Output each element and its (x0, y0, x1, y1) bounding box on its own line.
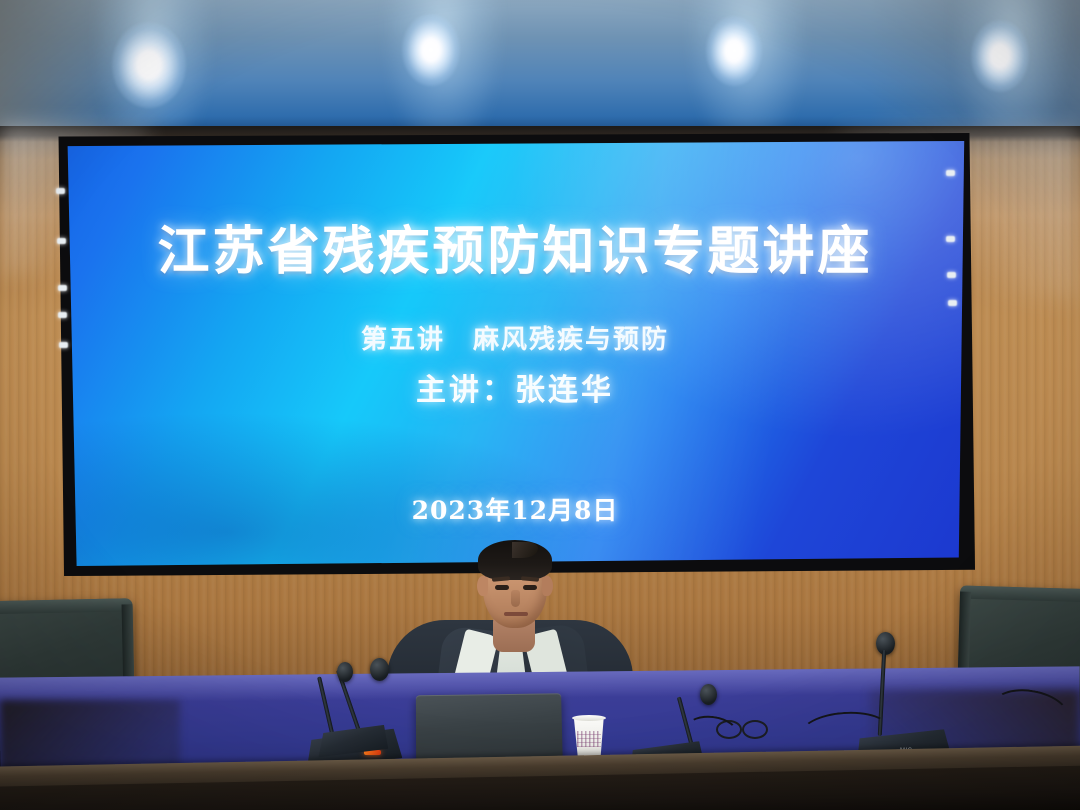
bezel-reflection-dot (946, 170, 955, 176)
microphone-left-capsule (370, 658, 389, 681)
chair-top-rail (0, 598, 133, 615)
speaker-eye-right (523, 585, 537, 590)
bezel-reflection-dot (57, 238, 66, 244)
chair-top-rail (960, 586, 1080, 604)
bezel-reflection-dot (58, 285, 67, 291)
ceiling-light-4 (971, 20, 1029, 92)
bezel-reflection-dot (946, 236, 955, 242)
slide-date: 2023年12月8日 (64, 491, 966, 527)
bezel-reflection-dot (947, 272, 956, 278)
lecture-room-photo: 江苏省残疾预防知识专题讲座 第五讲 麻风残疾与预防 主讲：张连华 2023年12… (0, 0, 1080, 810)
ceiling-light-2 (402, 14, 460, 86)
speaker-nose (511, 590, 520, 607)
slide-presenter: 主讲：张连华 (64, 365, 966, 409)
bezel-reflection-dot (58, 312, 67, 318)
speaker-ear-left (477, 576, 488, 596)
slide-content: 江苏省残疾预防知识专题讲座 第五讲 麻风残疾与预防 主讲：张连华 2023年12… (64, 141, 966, 566)
speaker-mouth (504, 612, 528, 616)
bezel-reflection-dot (948, 300, 957, 306)
speaker-eye-left (495, 585, 509, 590)
speaker-ear-right (542, 576, 553, 596)
microphone-center-right-capsule (700, 684, 717, 705)
bezel-reflection-dot (59, 342, 68, 348)
paper-cup-pattern (577, 731, 601, 747)
microphone-center-left-capsule (337, 662, 353, 682)
ceiling-light-3 (706, 16, 762, 86)
bezel-reflection-dot (56, 188, 65, 194)
slide-subtitle: 第五讲 麻风残疾与预防 (64, 319, 966, 356)
paper-cup-rim (572, 715, 606, 721)
slide-title: 江苏省残疾预防知识专题讲座 (64, 209, 966, 284)
ceiling-light-1 (112, 22, 186, 108)
